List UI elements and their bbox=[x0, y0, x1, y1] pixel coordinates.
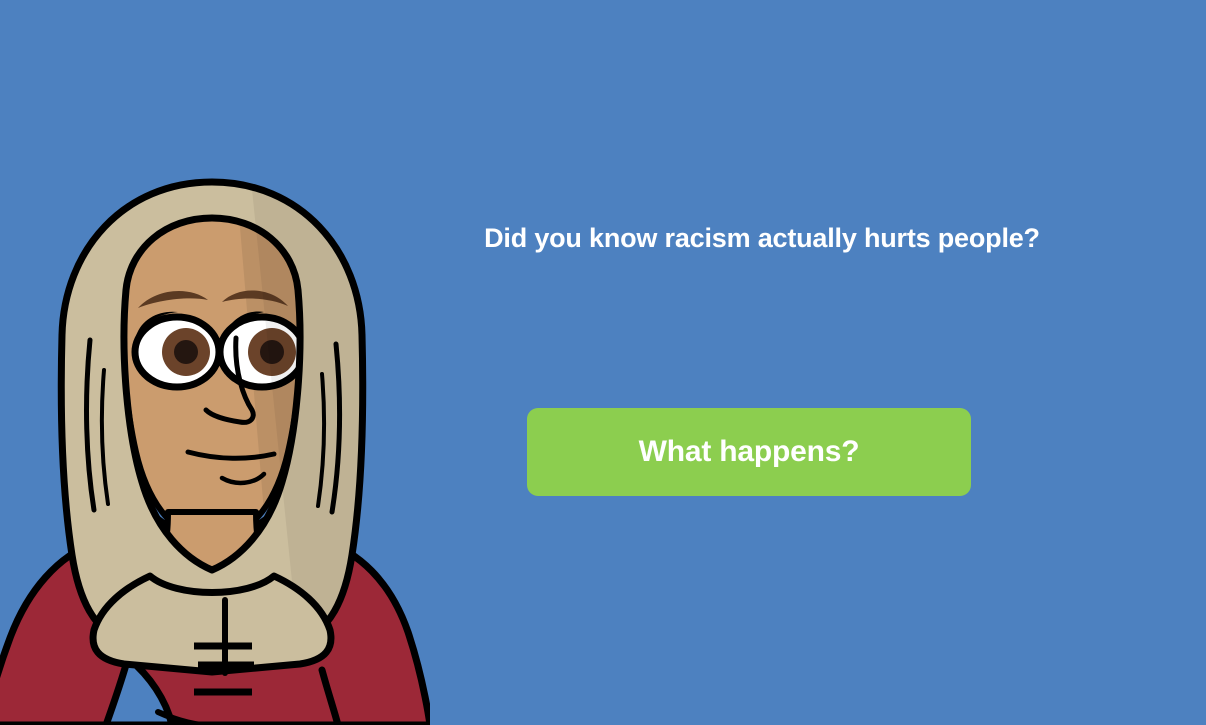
character-illustration bbox=[0, 160, 430, 725]
cta-container: What happens? bbox=[527, 408, 971, 496]
left-eye bbox=[135, 312, 219, 387]
panel-headline: Did you know racism actually hurts peopl… bbox=[432, 222, 1092, 254]
character-artwork bbox=[0, 170, 430, 725]
what-happens-button[interactable]: What happens? bbox=[527, 408, 971, 496]
storyboard-panel: Did you know racism actually hurts peopl… bbox=[0, 0, 1206, 725]
panel-content: Did you know racism actually hurts peopl… bbox=[430, 0, 1206, 725]
